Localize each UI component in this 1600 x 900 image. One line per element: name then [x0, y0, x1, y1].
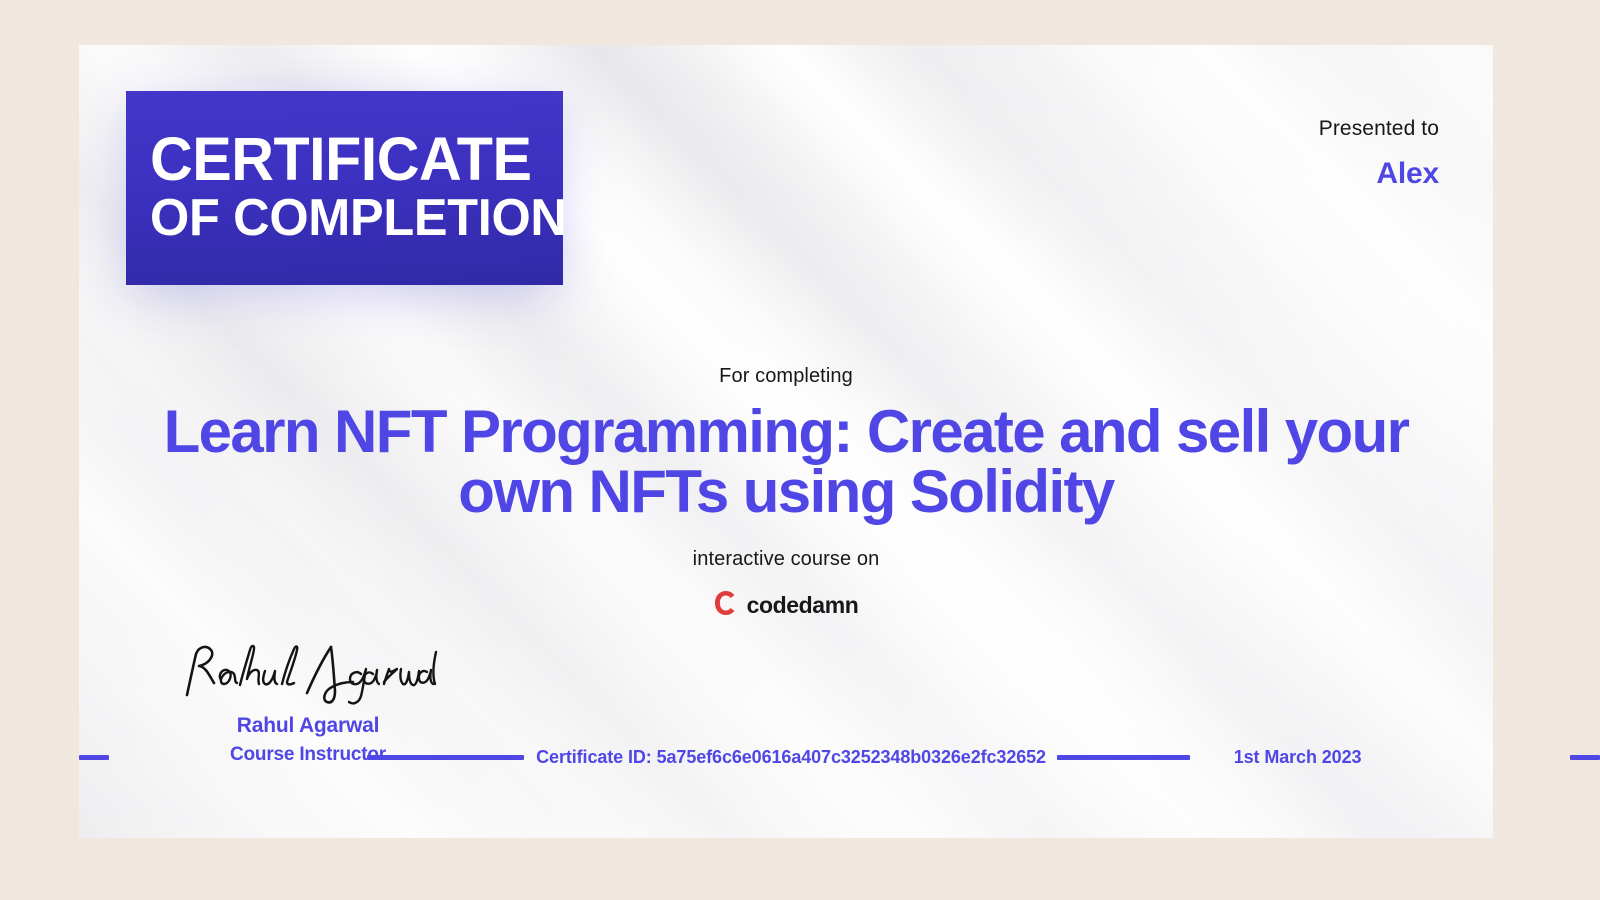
badge-title-line-1: CERTIFICATE	[150, 129, 551, 189]
footer-rule-left	[367, 755, 525, 760]
certificate-badge: CERTIFICATE OF COMPLETION	[126, 91, 563, 285]
certificate-body: For completing Learn NFT Programming: Cr…	[79, 365, 1493, 622]
for-completing-label: For completing	[79, 365, 1493, 388]
handwritten-signature-icon	[143, 641, 473, 712]
footer-rule-right	[1057, 755, 1190, 760]
course-title: Learn NFT Programming: Create and sell y…	[79, 402, 1493, 522]
badge-panel: CERTIFICATE OF COMPLETION	[126, 91, 563, 285]
interactive-course-label: interactive course on	[79, 548, 1493, 571]
codedamn-c-icon	[714, 589, 736, 622]
certificate-footer: Certificate ID: 5a75ef6c6e0616a407c32523…	[0, 754, 1600, 760]
presented-to-block: Presented to Alex	[1319, 117, 1439, 191]
signature-block: Rahul Agarwal Course Instructor	[143, 641, 473, 766]
brand-name: codedamn	[747, 592, 859, 619]
certificate-card: CERTIFICATE OF COMPLETION Presented to A…	[79, 45, 1493, 838]
recipient-name: Alex	[1319, 157, 1439, 191]
footer-rule-far-right	[1570, 755, 1600, 760]
badge-title-line-2: OF COMPLETION	[150, 189, 551, 247]
issue-date: 1st March 2023	[1234, 747, 1362, 768]
instructor-name: Rahul Agarwal	[143, 714, 473, 738]
footer-rule-far-left	[79, 755, 109, 760]
certificate-stage: CERTIFICATE OF COMPLETION Presented to A…	[0, 0, 1600, 900]
presented-to-label: Presented to	[1319, 117, 1439, 141]
certificate-id: Certificate ID: 5a75ef6c6e0616a407c32523…	[536, 747, 1046, 768]
brand-lockup: codedamn	[79, 589, 1493, 622]
